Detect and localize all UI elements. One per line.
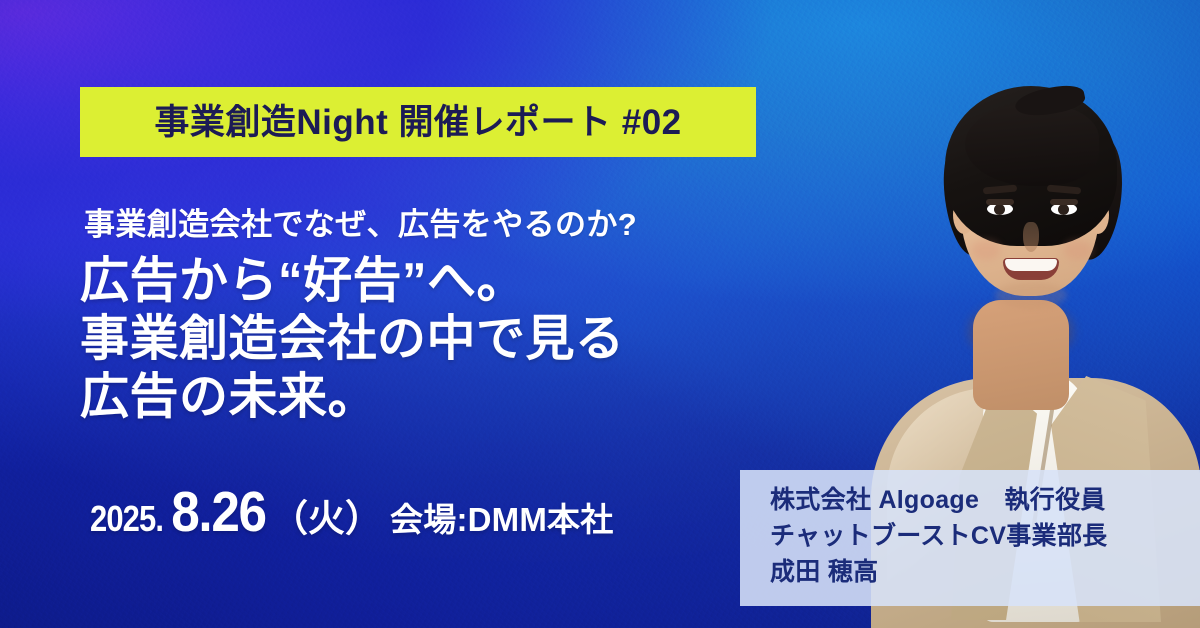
event-day: 8.26: [171, 479, 265, 545]
pupil-left: [994, 204, 1005, 215]
hair-fringe: [965, 104, 1099, 186]
cheek-left: [971, 240, 1001, 260]
nose: [1023, 222, 1039, 252]
report-badge-label: 事業創造Night 開催レポート #02: [154, 105, 681, 140]
headline-block: 広告から“好告”へ。 事業創造会社の中で見る 広告の未来。: [80, 252, 625, 426]
speaker-company-role: 株式会社 Algoage 執行役員: [770, 482, 1200, 518]
speaker-name: 成田 穂高: [770, 554, 1200, 590]
report-badge: 事業創造Night 開催レポート #02: [80, 87, 756, 157]
eyelid-left: [986, 199, 1014, 205]
eyelid-right: [1050, 199, 1078, 205]
teeth: [1005, 259, 1057, 271]
headline-line-3: 広告の未来。: [80, 368, 625, 426]
event-date-venue: 2025. 8.26 （火） 会場:DMM本社: [84, 479, 613, 545]
event-year: 2025.: [90, 498, 163, 540]
event-day-of-week: （火）: [271, 488, 382, 542]
event-venue: 会場:DMM本社: [390, 493, 613, 541]
smiling-mouth: [1003, 258, 1059, 280]
neck: [973, 300, 1069, 410]
chin-shading: [995, 282, 1067, 308]
pupil-right: [1058, 204, 1069, 215]
event-report-banner: 事業創造Night 開催レポート #02 事業創造会社でなぜ、広告をやるのか? …: [0, 0, 1200, 628]
speaker-department: チャットブーストCV事業部長: [770, 518, 1200, 554]
speaker-info-panel: 株式会社 Algoage 執行役員 チャットブーストCV事業部長 成田 穂高: [740, 470, 1200, 606]
headline-line-2: 事業創造会社の中で見る: [80, 310, 625, 368]
headline-line-1: 広告から“好告”へ。: [80, 252, 625, 310]
cheek-right: [1063, 240, 1093, 260]
subtitle-text: 事業創造会社でなぜ、広告をやるのか?: [84, 207, 637, 243]
